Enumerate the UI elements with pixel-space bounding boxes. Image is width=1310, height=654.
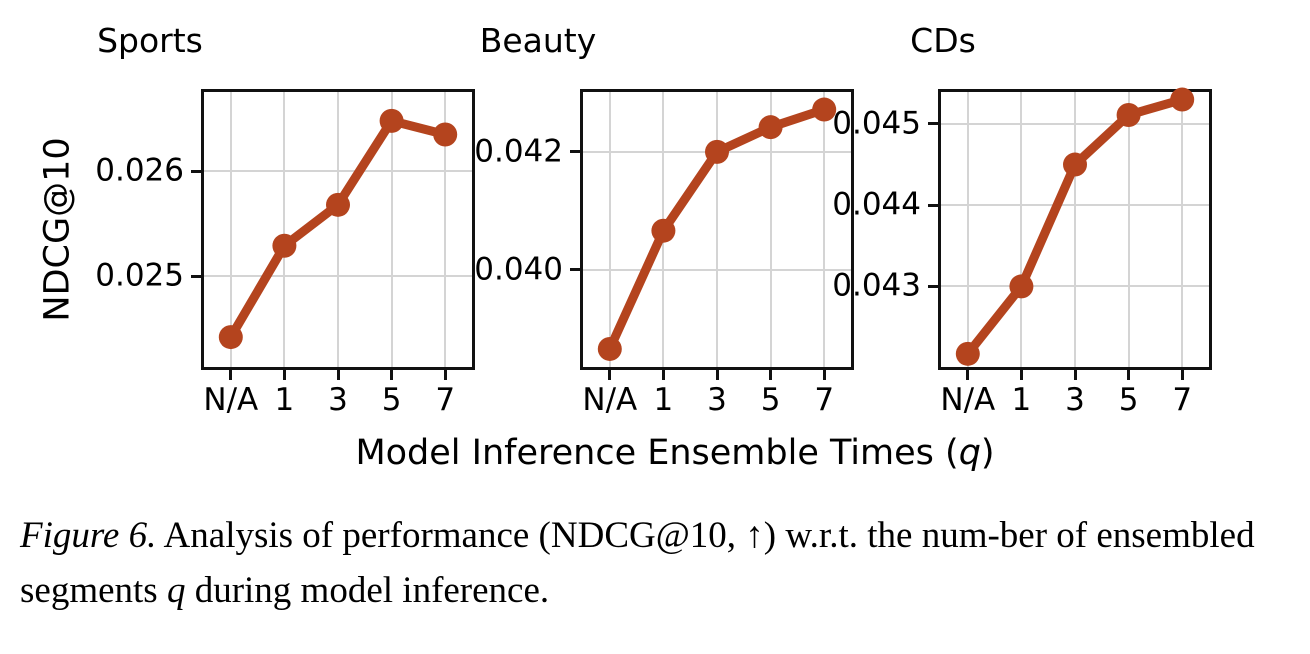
data-point-marker — [759, 115, 783, 139]
x-tick-label: 1 — [275, 385, 295, 416]
y-tick-mark — [928, 285, 941, 288]
data-point-marker — [326, 193, 350, 217]
data-point-marker — [705, 140, 729, 164]
x-axis-label-symbol: q — [959, 433, 981, 473]
x-tick-mark — [1074, 367, 1077, 380]
panel-beauty: Beauty N/A13570.0420.040 — [400, 0, 800, 430]
data-point-marker — [1063, 153, 1087, 177]
data-point-marker — [1009, 274, 1033, 298]
x-tick-mark — [1127, 367, 1130, 380]
x-tick-label: N/A — [203, 385, 258, 416]
y-tick-mark — [928, 204, 941, 207]
x-tick-label: 5 — [761, 385, 781, 416]
x-tick-mark — [229, 367, 232, 380]
y-tick-label: 0.045 — [832, 108, 921, 139]
x-tick-mark — [390, 367, 393, 380]
x-tick-label: 3 — [1065, 385, 1085, 416]
x-tick-mark — [1020, 367, 1023, 380]
y-tick-label: 0.026 — [95, 156, 184, 187]
y-tick-mark — [191, 170, 204, 173]
caption-figure-number: Figure 6. — [20, 515, 156, 556]
x-tick-mark — [337, 367, 340, 380]
data-point-marker — [219, 325, 243, 349]
x-axis-label-close: ) — [981, 433, 995, 473]
x-tick-label: 7 — [1172, 385, 1192, 416]
y-tick-label: 0.043 — [832, 271, 921, 302]
x-tick-mark — [1181, 367, 1184, 380]
caption-line1: Analysis of performance (NDCG@10, ↑) w.r… — [156, 515, 999, 556]
x-tick-label: 5 — [382, 385, 402, 416]
x-tick-label: 1 — [654, 385, 674, 416]
x-tick-label: 5 — [1119, 385, 1139, 416]
x-axis-label-text: Model Inference Ensemble Times ( — [355, 433, 958, 473]
data-point-marker — [651, 219, 675, 243]
x-tick-label: N/A — [940, 385, 995, 416]
data-point-marker — [1117, 103, 1141, 127]
series-line — [968, 100, 1182, 354]
y-tick-label: 0.025 — [95, 261, 184, 292]
y-tick-mark — [570, 150, 583, 153]
x-tick-mark — [716, 367, 719, 380]
panel-sports: Sports N/A13570.0260.025 — [20, 0, 420, 430]
figure-6-root: NDCG@10 Sports N/A13570.0260.025 Beauty … — [0, 0, 1310, 654]
x-tick-label: 3 — [328, 385, 348, 416]
x-tick-mark — [283, 367, 286, 380]
y-tick-mark — [191, 275, 204, 278]
y-tick-label: 0.044 — [832, 190, 921, 221]
x-tick-mark — [608, 367, 611, 380]
x-tick-mark — [662, 367, 665, 380]
data-point-marker — [1170, 88, 1194, 112]
axes-cds: N/A13570.0450.0440.043 — [938, 89, 1212, 370]
x-tick-mark — [769, 367, 772, 380]
series-plot — [941, 92, 1209, 367]
panel-title-cds: CDs — [743, 22, 1143, 60]
caption-line2-b: during model inference. — [185, 570, 549, 611]
data-point-marker — [956, 342, 980, 366]
x-axis-label: Model Inference Ensemble Times (q) — [0, 432, 1310, 474]
y-tick-mark — [928, 122, 941, 125]
x-tick-label: 3 — [707, 385, 727, 416]
y-tick-mark — [570, 268, 583, 271]
figure-caption: Figure 6. Analysis of performance (NDCG@… — [20, 508, 1290, 618]
x-tick-mark — [966, 367, 969, 380]
y-tick-label: 0.042 — [474, 136, 563, 167]
x-tick-label: N/A — [582, 385, 637, 416]
x-tick-label: 1 — [1012, 385, 1032, 416]
caption-symbol-q: q — [167, 570, 186, 611]
y-tick-label: 0.040 — [474, 254, 563, 285]
panel-title-beauty: Beauty — [338, 22, 738, 60]
plots-region: NDCG@10 Sports N/A13570.0260.025 Beauty … — [0, 0, 1310, 490]
panel-title-sports: Sports — [0, 22, 350, 60]
panel-cds: CDs N/A13570.0450.0440.043 — [790, 0, 1190, 430]
data-point-marker — [272, 234, 296, 258]
data-point-marker — [598, 337, 622, 361]
